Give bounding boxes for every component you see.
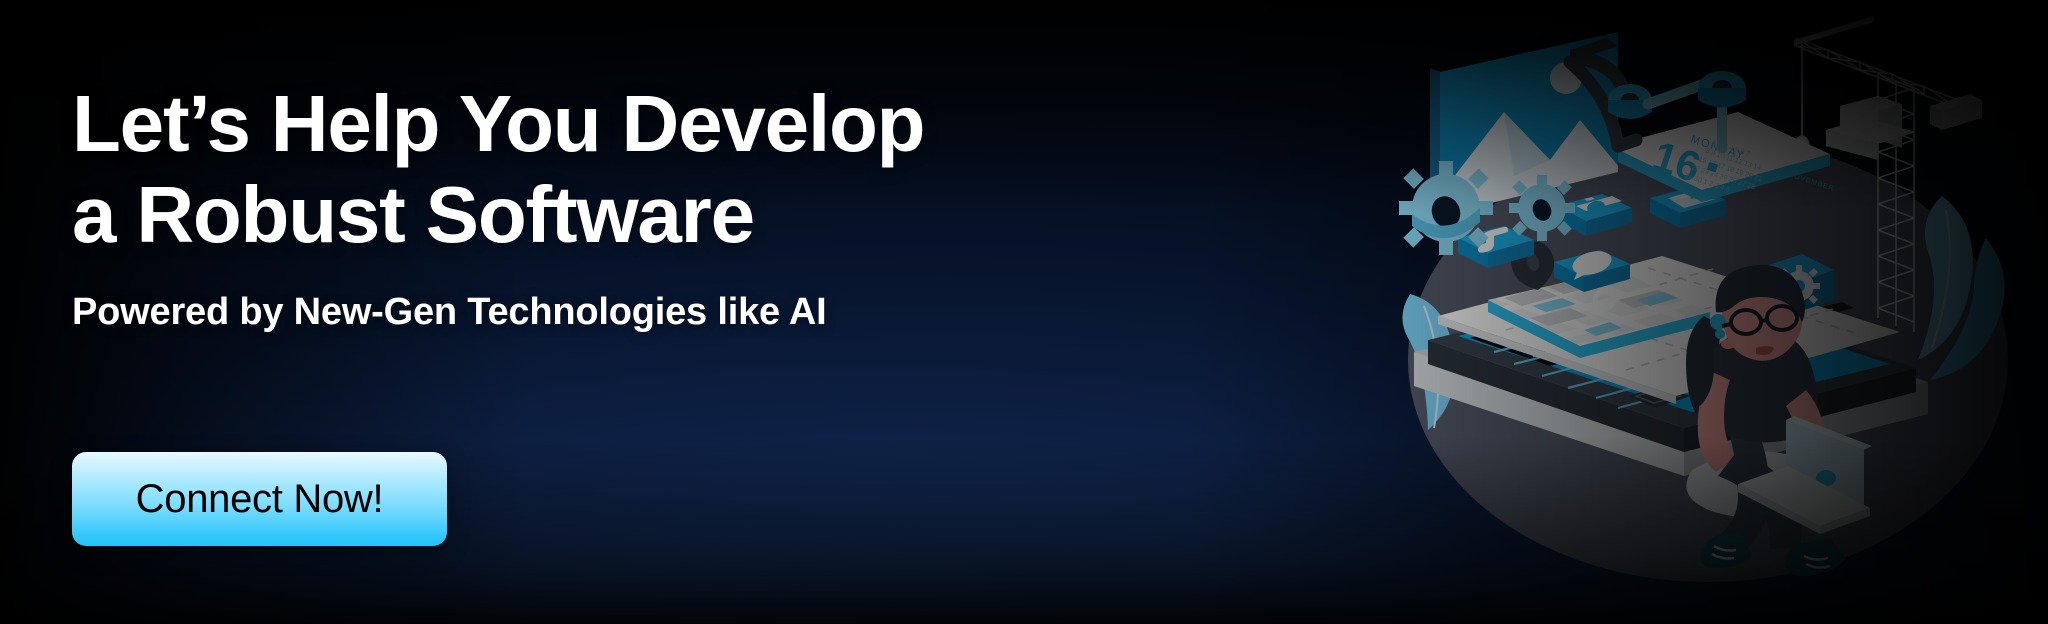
connect-now-button[interactable]: Connect Now! — [72, 452, 447, 546]
hero-banner: MONDAY 16 NOVEMBER 1 2 3 4 5 6 7 8 9 10 … — [0, 0, 2048, 624]
hero-subtitle: Powered by New-Gen Technologies like AI — [72, 290, 1172, 336]
hero-copy: Let’s Help You Develop a Robust Software… — [72, 78, 1172, 336]
page-title: Let’s Help You Develop a Robust Software — [72, 78, 1172, 260]
